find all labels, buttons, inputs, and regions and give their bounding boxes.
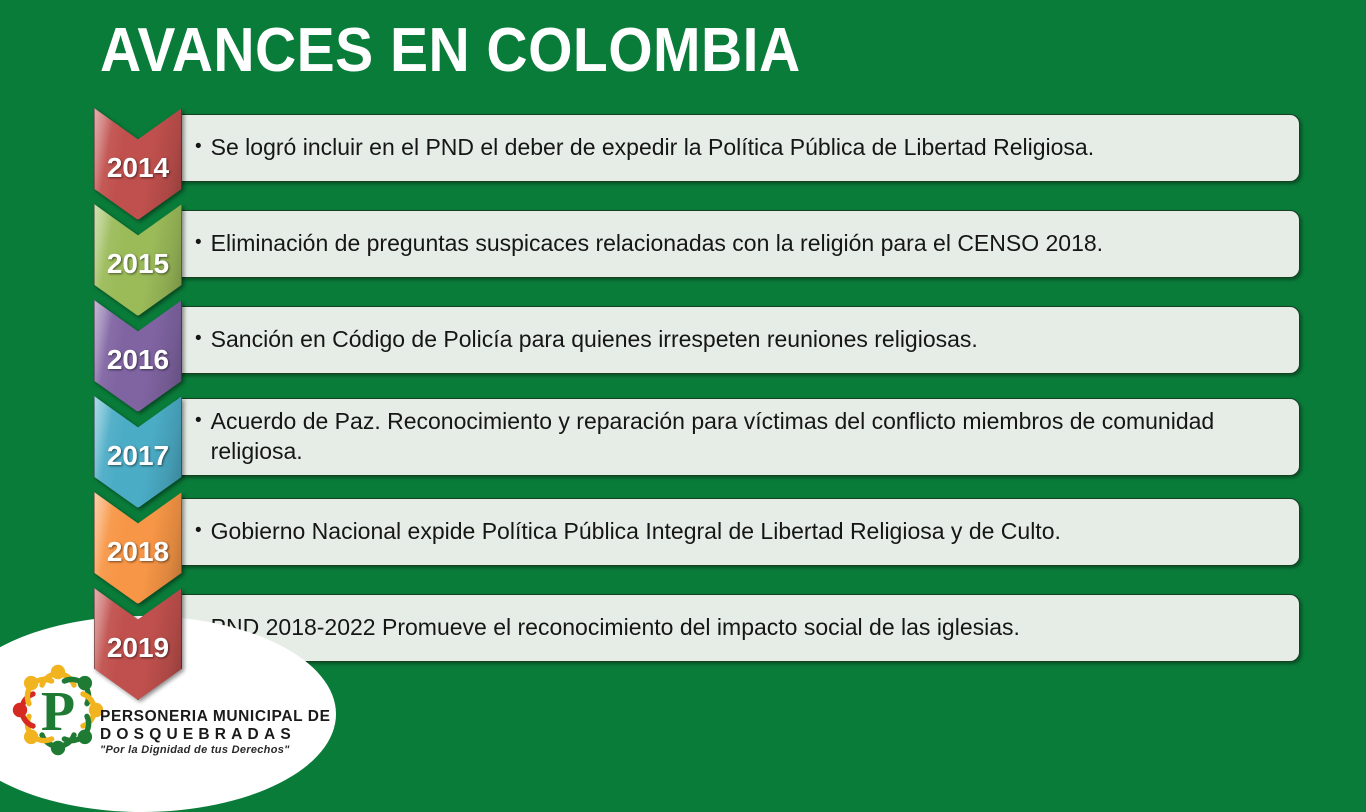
- timeline-list: 2014•Se logró incluir en el PND el deber…: [0, 108, 1366, 684]
- timeline-text: Sanción en Código de Policía para quiene…: [211, 325, 978, 355]
- timeline-text-box[interactable]: •Acuerdo de Paz. Reconocimiento y repara…: [172, 398, 1300, 476]
- timeline-text-box[interactable]: •Eliminación de preguntas suspicaces rel…: [172, 210, 1300, 278]
- logo-line-1: PERSONERIA MUNICIPAL DE: [100, 708, 320, 725]
- bullet-icon: •: [195, 229, 202, 257]
- timeline-text-box[interactable]: •Se logró incluir en el PND el deber de …: [172, 114, 1300, 182]
- chevron-edge: [94, 588, 182, 700]
- timeline-row: 2016•Sanción en Código de Policía para q…: [0, 300, 1366, 396]
- timeline-text: PND 2018-2022 Promueve el reconocimiento…: [211, 613, 1020, 643]
- timeline-row: 2018•Gobierno Nacional expide Política P…: [0, 492, 1366, 588]
- svg-text:P: P: [41, 681, 75, 743]
- timeline-text-box[interactable]: •Gobierno Nacional expide Política Públi…: [172, 498, 1300, 566]
- timeline-row: 2014•Se logró incluir en el PND el deber…: [0, 108, 1366, 204]
- bullet-icon: •: [195, 517, 202, 545]
- timeline-text: Se logró incluir en el PND el deber de e…: [211, 133, 1094, 163]
- timeline-text: Acuerdo de Paz. Reconocimiento y reparac…: [211, 407, 1281, 467]
- year-chevron-2019[interactable]: 2019: [94, 588, 182, 700]
- timeline-row: 2015•Eliminación de preguntas suspicaces…: [0, 204, 1366, 300]
- logo-line-2: DOSQUEBRADAS: [100, 726, 320, 743]
- bullet-icon: •: [195, 407, 202, 435]
- timeline-text-box[interactable]: •PND 2018-2022 Promueve el reconocimient…: [172, 594, 1300, 662]
- bullet-icon: •: [195, 133, 202, 161]
- logo-tagline: "Por la Dignidad de tus Derechos": [100, 744, 320, 756]
- logo-wordmark: PERSONERIA MUNICIPAL DE DOSQUEBRADAS "Po…: [100, 708, 320, 756]
- timeline-text: Eliminación de preguntas suspicaces rela…: [211, 229, 1103, 259]
- timeline-text: Gobierno Nacional expide Política Públic…: [211, 517, 1061, 547]
- page-title: AVANCES EN COLOMBIA: [100, 18, 801, 83]
- timeline-row: 2017•Acuerdo de Paz. Reconocimiento y re…: [0, 396, 1366, 492]
- bullet-icon: •: [195, 325, 202, 353]
- timeline-text-box[interactable]: •Sanción en Código de Policía para quien…: [172, 306, 1300, 374]
